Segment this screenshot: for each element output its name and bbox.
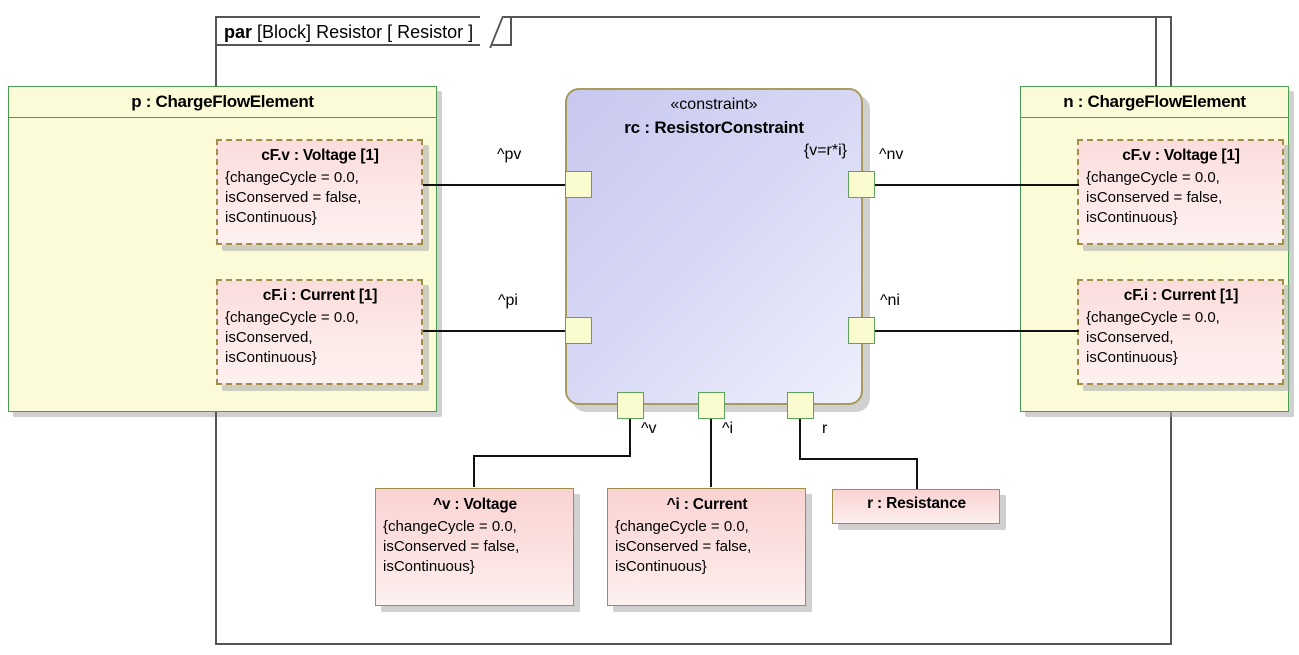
value-box-r-resistance[interactable]: r : Resistance (832, 489, 1000, 524)
right-property-cf-v-line-1: {changeCycle = 0.0, (1086, 168, 1276, 188)
connector-r-seg3 (916, 458, 918, 490)
right-property-cf-v[interactable]: cF.v : Voltage [1] {changeCycle = 0.0, i… (1077, 139, 1284, 245)
port-ni-label: ^ni (880, 292, 900, 310)
port-pi-label: ^pi (498, 292, 518, 310)
value-box-i-current[interactable]: ^i : Current {changeCycle = 0.0, isConse… (607, 488, 806, 606)
constraint-name: rc : ResistorConstraint (567, 118, 861, 138)
connector-nv (863, 184, 1079, 186)
left-property-cf-v[interactable]: cF.v : Voltage [1] {changeCycle = 0.0, i… (216, 139, 423, 245)
right-property-cf-i-line-2: isConserved, (1086, 328, 1276, 348)
diagram-title-type: [Block] (257, 22, 311, 42)
connector-r-seg2 (799, 458, 918, 460)
value-box-i-title: ^i : Current (615, 496, 799, 514)
constraint-expression: {v=r*i} (804, 142, 847, 160)
value-box-v-title: ^v : Voltage (383, 496, 567, 514)
frame-anchor-left-bottom (215, 412, 217, 643)
part-p-title: p : ChargeFlowElement (9, 87, 436, 118)
constraint-block-rc[interactable]: «constraint» rc : ResistorConstraint {v=… (565, 88, 863, 405)
diagram-title-name: [ Resistor ] (387, 22, 473, 42)
diagram-canvas: par [Block] Resistor [ Resistor ] p : Ch… (0, 0, 1299, 655)
port-i-label: ^i (722, 420, 733, 438)
diagram-title: par [Block] Resistor [ Resistor ] (224, 18, 473, 46)
port-i[interactable] (698, 392, 725, 419)
left-property-cf-i-line-3: isContinuous} (225, 348, 415, 368)
value-box-v-voltage[interactable]: ^v : Voltage {changeCycle = 0.0, isConse… (375, 488, 574, 606)
port-r[interactable] (787, 392, 814, 419)
left-property-cf-i[interactable]: cF.i : Current [1] {changeCycle = 0.0, i… (216, 279, 423, 385)
left-property-cf-v-line-2: isConserved = false, (225, 188, 415, 208)
diagram-frame-top-edge (512, 16, 1172, 18)
right-property-cf-v-title: cF.v : Voltage [1] (1086, 147, 1276, 165)
port-r-label: r (822, 420, 827, 438)
diagram-frame-header-notch (480, 16, 513, 48)
port-pv[interactable] (565, 171, 592, 198)
value-box-i-line-3: isContinuous} (615, 557, 799, 577)
right-property-cf-i-title: cF.i : Current [1] (1086, 287, 1276, 305)
connector-pi (423, 330, 575, 332)
connector-pv (423, 184, 575, 186)
connector-v-seg3 (473, 455, 475, 487)
diagram-title-block: Resistor (316, 22, 382, 42)
value-box-i-line-1: {changeCycle = 0.0, (615, 517, 799, 537)
value-box-v-line-1: {changeCycle = 0.0, (383, 517, 567, 537)
connector-v-seg2 (473, 455, 631, 457)
port-ni[interactable] (848, 317, 875, 344)
connector-i (710, 412, 712, 487)
diagram-title-keyword: par (224, 22, 252, 42)
part-n-title: n : ChargeFlowElement (1021, 87, 1288, 118)
right-property-cf-i-line-3: isContinuous} (1086, 348, 1276, 368)
connector-r-seg1 (799, 412, 801, 460)
constraint-stereotype: «constraint» (567, 96, 861, 114)
left-property-cf-i-line-1: {changeCycle = 0.0, (225, 308, 415, 328)
port-v-label: ^v (641, 420, 657, 438)
port-pv-label: ^pv (497, 146, 521, 164)
left-property-cf-i-line-2: isConserved, (225, 328, 415, 348)
value-box-v-line-2: isConserved = false, (383, 537, 567, 557)
port-nv[interactable] (848, 171, 875, 198)
value-box-v-line-3: isContinuous} (383, 557, 567, 577)
right-property-cf-i[interactable]: cF.i : Current [1] {changeCycle = 0.0, i… (1077, 279, 1284, 385)
left-property-cf-v-line-1: {changeCycle = 0.0, (225, 168, 415, 188)
value-box-r-title: r : Resistance (840, 495, 993, 513)
port-v[interactable] (617, 392, 644, 419)
right-property-cf-v-line-2: isConserved = false, (1086, 188, 1276, 208)
right-property-cf-i-line-1: {changeCycle = 0.0, (1086, 308, 1276, 328)
right-property-cf-v-line-3: isContinuous} (1086, 208, 1276, 228)
connector-ni (863, 330, 1079, 332)
port-pi[interactable] (565, 317, 592, 344)
port-nv-label: ^nv (879, 146, 903, 164)
left-property-cf-v-title: cF.v : Voltage [1] (225, 147, 415, 165)
frame-anchor-left-top (215, 46, 217, 86)
left-property-cf-i-title: cF.i : Current [1] (225, 287, 415, 305)
left-property-cf-v-line-3: isContinuous} (225, 208, 415, 228)
value-box-i-line-2: isConserved = false, (615, 537, 799, 557)
frame-anchor-right-top (1155, 18, 1157, 86)
